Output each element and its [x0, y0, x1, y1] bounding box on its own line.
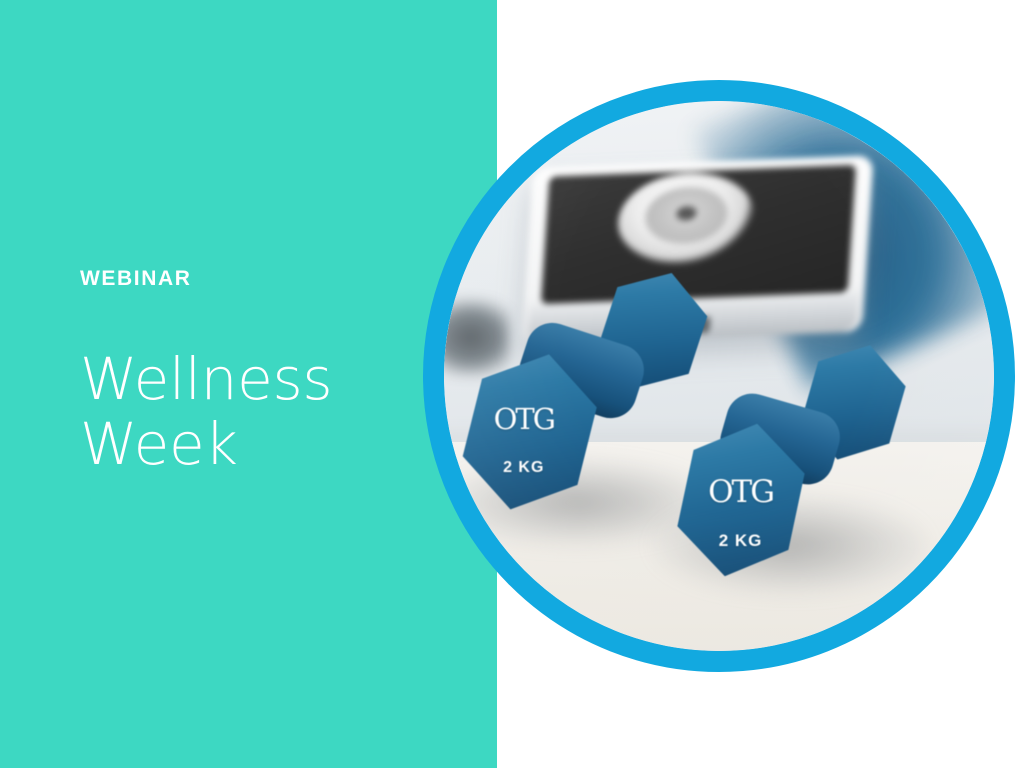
- dumbbell-brand-logo: OTG: [472, 405, 577, 434]
- dumbbell-weight-label: 2 KG: [693, 531, 788, 551]
- dumbbell-brand-logo: OTG: [690, 477, 790, 508]
- dumbbell-front: OTG 2 KG: [664, 343, 928, 591]
- text-block: WEBINAR Wellness Week: [80, 266, 480, 477]
- photo-circle-frame: OTG 2 KG OTG 2 KG: [423, 80, 1015, 672]
- eyebrow-label: WEBINAR: [80, 266, 480, 291]
- photo-image: OTG 2 KG OTG 2 KG: [444, 101, 994, 651]
- slide-canvas: WEBINAR Wellness Week: [0, 0, 1024, 768]
- page-title: Wellness Week: [80, 347, 480, 477]
- dumbbell-weight-label: 2 KG: [474, 459, 573, 477]
